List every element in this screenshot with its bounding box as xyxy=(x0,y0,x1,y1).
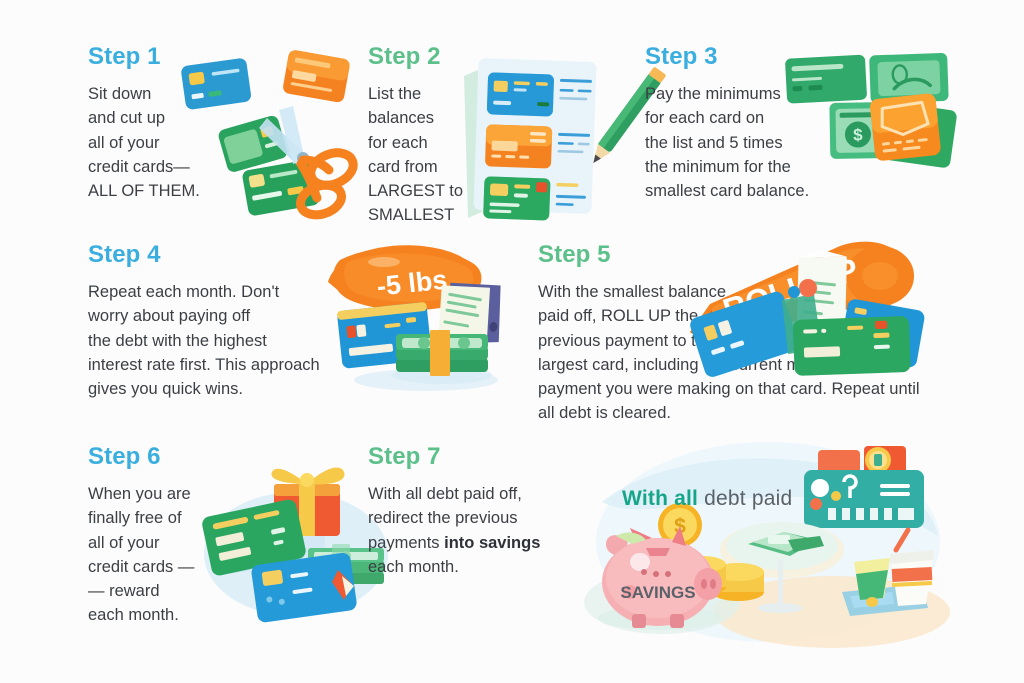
final-banner-text: With all debt paid xyxy=(622,487,792,511)
step-body-7: With all debt paid off, redirect the pre… xyxy=(368,482,578,578)
final-banner-plain: debt paid xyxy=(698,487,792,510)
illustration-step-3: $ xyxy=(778,48,953,193)
infographic-canvas: Step 1 Sit down and cut up all of your c… xyxy=(0,0,1024,683)
illustration-step-1 xyxy=(175,48,360,213)
illustration-step-2 xyxy=(452,52,632,227)
illustration-step-5: ROLL UP xyxy=(690,242,925,382)
step-body-7-part2: each month. xyxy=(368,558,459,576)
illustration-final-savings: $ SAVING xyxy=(592,432,944,647)
piggy-bank-label: SAVINGS xyxy=(620,583,695,602)
illustration-step-6 xyxy=(196,442,396,622)
step-body-7-bold: into savings xyxy=(444,534,540,552)
step-block-7: Step 7 With all debt paid off, redirect … xyxy=(368,444,578,579)
step-title-7: Step 7 xyxy=(368,444,578,470)
svg-text:$: $ xyxy=(853,125,863,144)
final-banner-accent: With all xyxy=(622,487,698,510)
illustration-step-4: -5 lbs xyxy=(318,240,528,395)
